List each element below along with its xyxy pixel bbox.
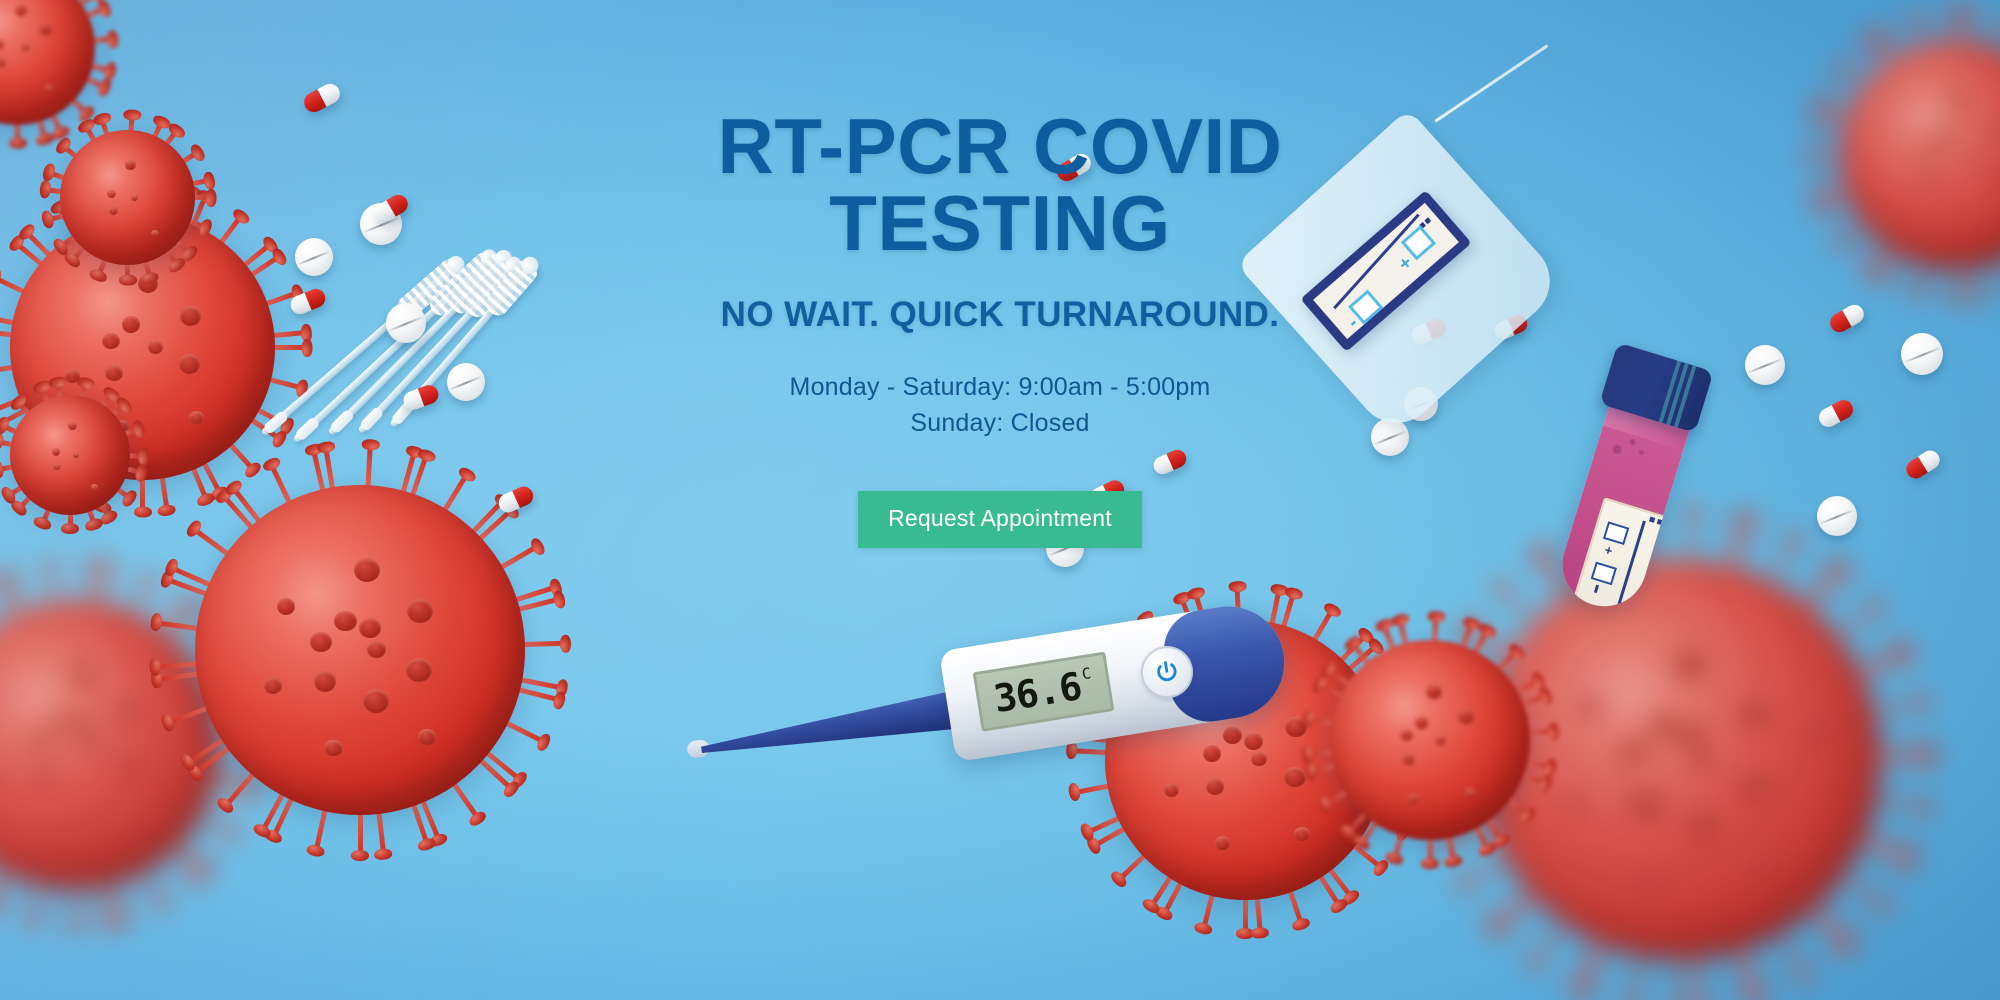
capsule-pill — [301, 80, 344, 115]
virus-pore — [115, 752, 138, 773]
virus-pore — [125, 160, 136, 170]
virus-capsid — [1330, 640, 1530, 840]
virus-pore — [68, 422, 77, 431]
virus-pore — [180, 306, 201, 325]
cta-container: Request Appointment — [620, 491, 1380, 548]
virus-pore — [1673, 649, 1705, 678]
tablet-pill — [1817, 496, 1857, 536]
thermometer-lcd-display: 36.6 C — [973, 652, 1115, 732]
virus-pore — [1987, 161, 2000, 178]
virus-pore — [1206, 778, 1225, 795]
temperature-unit: C — [1081, 664, 1093, 683]
virus-pore — [354, 558, 380, 582]
virus-pore — [1415, 716, 1428, 728]
blood-sample-test-tube: + — [1539, 341, 1722, 620]
virus-pore — [31, 729, 50, 747]
virus-pore — [53, 463, 61, 470]
virus-pore — [1465, 788, 1476, 798]
virus-pore — [151, 230, 158, 237]
virus-pore — [1435, 735, 1446, 745]
virus-pore — [39, 23, 51, 34]
virus-pore — [52, 448, 60, 455]
virus-pore — [73, 452, 80, 458]
virus-pore — [102, 333, 120, 349]
request-appointment-button[interactable]: Request Appointment — [858, 491, 1142, 548]
virus-pore — [1619, 738, 1646, 763]
virus-pore — [1996, 210, 2000, 222]
virus-small-upper-left — [60, 130, 195, 265]
virus-pore — [0, 57, 6, 67]
virus-small-mid-left — [10, 395, 130, 515]
virus-pore — [1923, 170, 1938, 184]
digital-thermometer: 36.6 C — [687, 563, 1306, 825]
tablet-pill — [295, 238, 333, 276]
virus-pore — [1624, 786, 1651, 811]
headline-line-2: TESTING — [829, 179, 1171, 267]
virus-pore — [0, 769, 7, 784]
banner-content: RT-PCR COVID TESTING NO WAIT. QUICK TURN… — [620, 108, 1380, 548]
page-title: RT-PCR COVID TESTING — [620, 108, 1380, 262]
virus-capsid — [1840, 40, 2000, 270]
virus-pore — [1684, 807, 1716, 836]
virus-pore — [1400, 729, 1413, 741]
virus-pore — [418, 729, 436, 746]
virus-bottom-left-blur — [0, 600, 220, 890]
tablet-pill — [1745, 345, 1785, 385]
virus-pore — [1203, 745, 1222, 762]
virus-pore — [107, 190, 116, 198]
virus-pore — [1649, 713, 1676, 738]
thermometer-probe — [698, 688, 971, 770]
virus-pore — [21, 43, 30, 51]
virus-pore — [1988, 119, 2000, 136]
virus-pore — [105, 365, 123, 381]
virus-large-left — [10, 215, 275, 480]
virus-pore — [109, 206, 118, 214]
virus-pore — [1215, 836, 1230, 850]
virus-capsid — [195, 485, 525, 815]
temperature-reading: 36.6 — [991, 664, 1084, 721]
virus-pore — [116, 700, 139, 721]
virus-pore — [126, 814, 142, 829]
virus-right-edge-blur — [1840, 40, 2000, 270]
virus-pore — [277, 598, 295, 615]
capsule-pill — [288, 286, 328, 317]
virus-capsid — [10, 215, 275, 480]
virus-pore — [82, 737, 98, 752]
virus-pore — [406, 658, 432, 682]
virus-capsid — [0, 600, 220, 890]
virus-pore — [74, 717, 93, 735]
virus-pore — [1736, 770, 1768, 799]
virus-pore — [1426, 684, 1442, 699]
capsule-pill — [1816, 397, 1857, 431]
virus-pore — [1637, 869, 1659, 889]
virus-edge-top-left — [0, 0, 95, 125]
virus-capsid — [10, 395, 130, 515]
virus-pore — [324, 740, 342, 757]
virus-pore — [1689, 749, 1711, 769]
virus-pore — [1164, 783, 1179, 797]
virus-pore — [45, 84, 54, 92]
tablet-pill — [1901, 333, 1943, 375]
capsule-pill — [401, 382, 441, 412]
virus-pore — [1678, 721, 1705, 746]
virus-pore — [70, 664, 93, 685]
virus-pore — [15, 4, 27, 15]
virus-pore — [1408, 794, 1419, 804]
virus-pore — [1737, 698, 1769, 727]
hours-sunday: Sunday: Closed — [620, 405, 1380, 441]
swab-stick — [1434, 44, 1548, 123]
virus-pore — [131, 194, 138, 201]
capsule-pill — [1827, 301, 1868, 335]
virus-pore — [53, 711, 72, 729]
virus-pore — [148, 340, 163, 353]
virus-pore — [1632, 790, 1664, 819]
virus-pore — [359, 618, 381, 638]
virus-pore — [1284, 767, 1306, 787]
thermometer-body: 36.6 C — [939, 598, 1292, 762]
virus-pore — [1564, 793, 1586, 813]
virus-pore — [1937, 128, 1952, 142]
hours-weekday: Monday - Saturday: 9:00am - 5:00pm — [620, 369, 1380, 405]
virus-pore — [122, 316, 140, 332]
virus-pore — [1251, 752, 1266, 766]
virus-pore — [1579, 697, 1601, 717]
tablet-pill — [386, 303, 426, 343]
virus-pore — [179, 354, 200, 373]
virus-pore — [310, 632, 332, 652]
business-hours: Monday - Saturday: 9:00am - 5:00pm Sunda… — [620, 369, 1380, 442]
virus-pore — [1751, 855, 1773, 875]
virus-capsid — [1480, 560, 1880, 960]
virus-pore — [1402, 753, 1415, 765]
virus-pore — [1805, 716, 1832, 741]
tablet-pill — [447, 363, 485, 401]
subtitle: NO WAIT. QUICK TURNAROUND. — [620, 296, 1380, 335]
virus-pore — [44, 824, 60, 839]
virus-pore — [1920, 143, 1935, 157]
virus-bottom-right-blur — [1480, 560, 1880, 960]
virus-pore — [264, 677, 282, 694]
virus-bottom-right-2 — [1330, 640, 1530, 840]
virus-pore — [1294, 827, 1309, 841]
virus-pore — [0, 39, 4, 49]
virus-pore — [1458, 709, 1474, 724]
virus-pore — [138, 274, 159, 293]
virus-pore — [91, 484, 98, 490]
virus-pore — [407, 599, 433, 623]
virus-pore — [189, 411, 204, 424]
capsule-pill — [496, 484, 537, 516]
virus-pore — [334, 611, 356, 631]
covid-testing-banner: - + + — [0, 0, 2000, 1000]
virus-pore — [1951, 91, 1969, 108]
virus-pore — [314, 671, 336, 691]
virus-capsid — [60, 130, 195, 265]
virus-capsid — [0, 0, 95, 125]
virus-pore — [363, 689, 389, 713]
virus-pore — [367, 641, 385, 658]
virus-pore — [65, 369, 80, 382]
headline-line-1: RT-PCR COVID — [717, 102, 1282, 190]
virus-pore — [114, 420, 129, 433]
virus-bottom-left-large — [195, 485, 525, 815]
virus-pore — [1930, 218, 1943, 230]
capsule-pill — [1903, 447, 1944, 482]
virus-pore — [34, 764, 53, 782]
virus-pore — [1960, 149, 1973, 161]
